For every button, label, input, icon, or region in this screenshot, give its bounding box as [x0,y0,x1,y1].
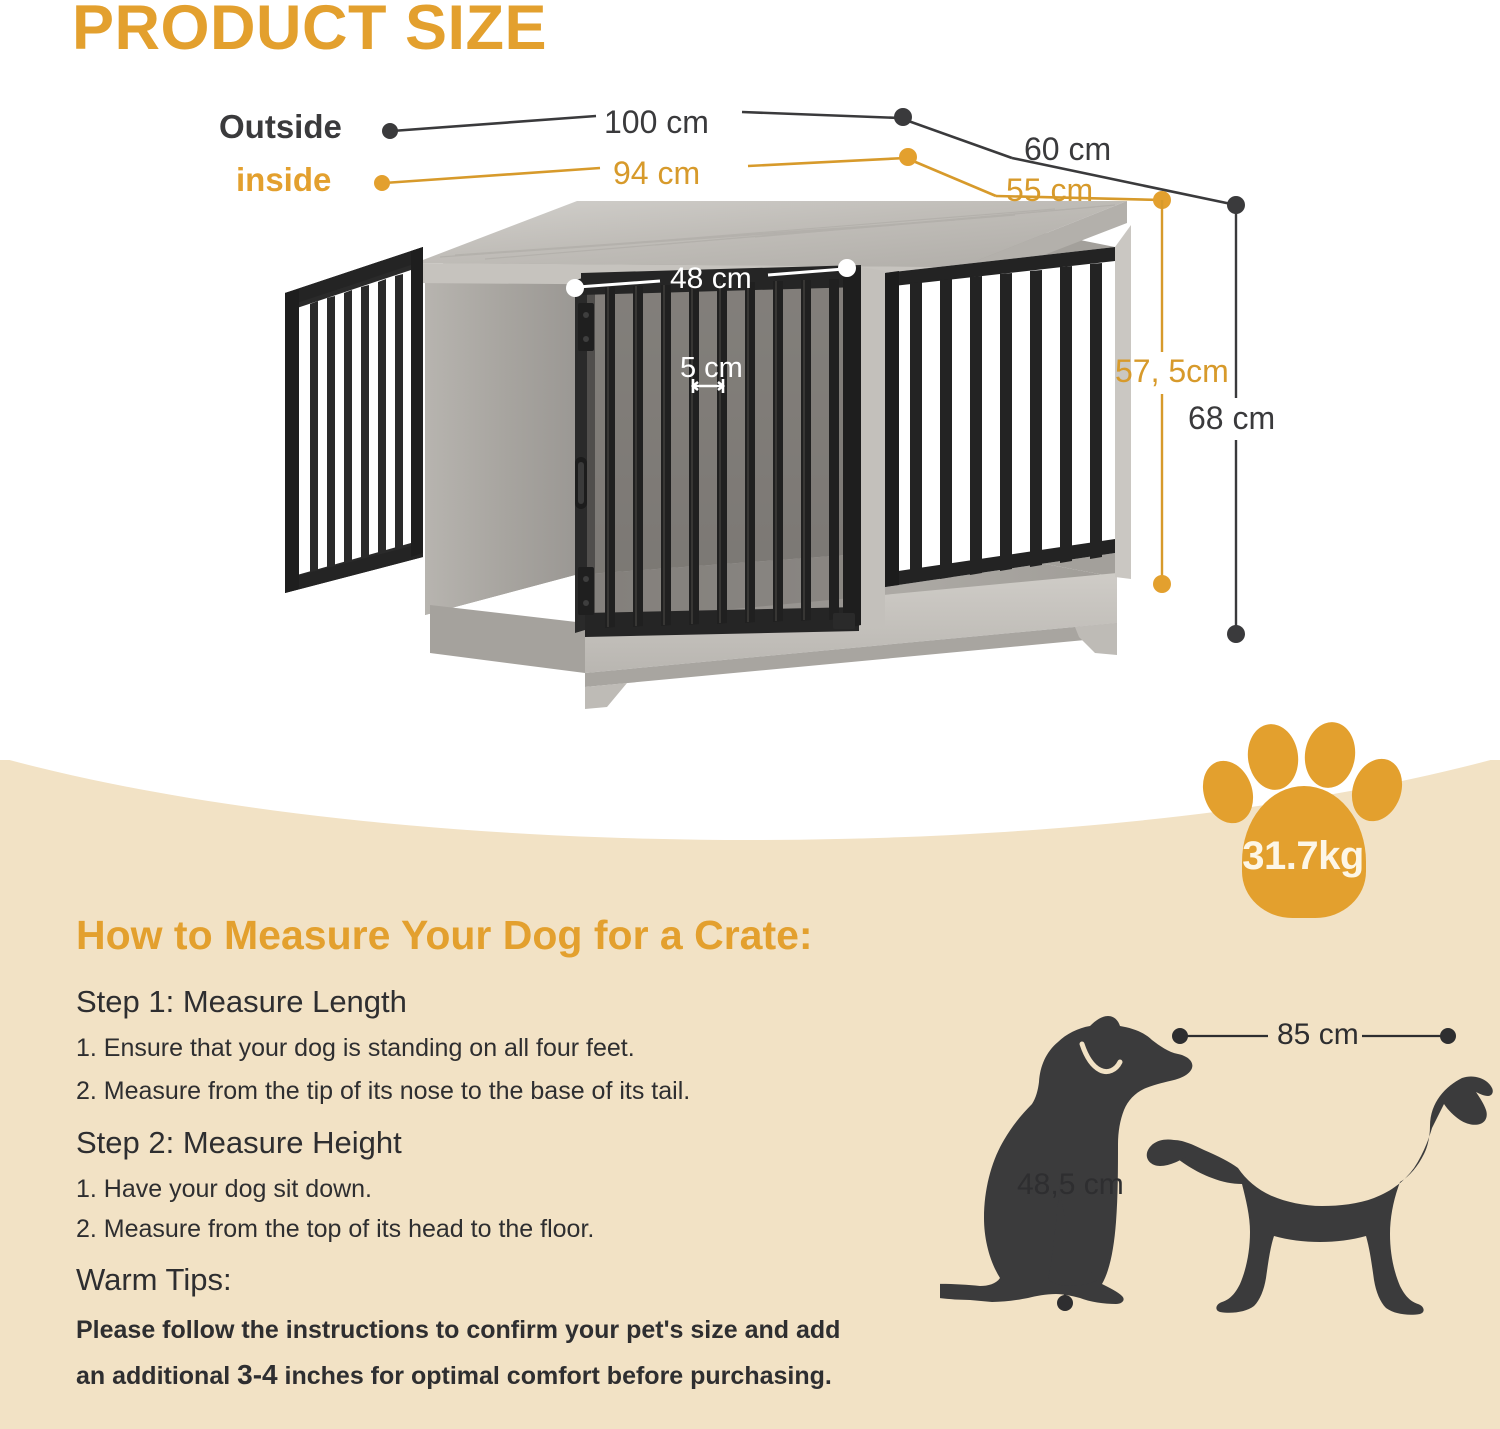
label-door-width: 48 cm [670,262,752,296]
step1-line1: 1. Ensure that your dog is standing on a… [76,1034,635,1063]
warm-tips-line2-post: inches for optimal comfort before purcha… [278,1362,832,1390]
dim-endpoint-outside-right [1227,196,1245,214]
label-outside: Outside [219,108,342,146]
label-outside-width: 100 cm [604,104,709,141]
label-outside-height: 68 cm [1188,400,1275,437]
step1-title: Step 1: Measure Length [76,984,407,1020]
infographic-canvas: PRODUCT SIZE [0,0,1500,1429]
open-left-door [285,247,423,593]
guide-heading: How to Measure Your Dog for a Crate: [76,912,813,959]
weight-value: 31.7kg [1198,834,1408,879]
standing-dog-silhouette [1147,1077,1493,1315]
step1-line2: 2. Measure from the tip of its nose to t… [76,1077,690,1106]
warm-tips-line2: an additional 3-4 inches for optimal com… [76,1359,832,1391]
step2-title: Step 2: Measure Height [76,1125,402,1161]
warm-tips-line1: Please follow the instructions to confir… [76,1316,840,1345]
dim-endpoint-outside-left [382,123,398,139]
step2-line2: 2. Measure from the top of its head to t… [76,1215,594,1244]
paw-print-icon: 31.7kg [1198,716,1408,921]
label-dog-standing-length: 85 cm [1277,1018,1359,1052]
label-inside-depth: 55 cm [1006,172,1093,209]
page-title: PRODUCT SIZE [72,0,547,64]
label-inside-width: 94 cm [613,155,700,192]
dog-crate-product-image [255,175,1135,735]
warm-tips-line2-pre: an additional [76,1362,237,1390]
dim-endpoint-inside-topcorner [899,148,917,166]
paw-toe-3 [1301,719,1360,791]
dim-endpoint-inside-right [1153,191,1171,209]
label-inside-height: 57, 5cm [1115,353,1229,390]
step2-line1: 1. Have your dog sit down. [76,1175,372,1204]
paw-toe-2 [1244,721,1303,793]
label-bar-gap: 5 cm [680,352,743,385]
label-outside-depth: 60 cm [1024,131,1111,168]
label-dog-sitting-height: 48,5 cm [1017,1168,1124,1202]
dim-endpoint-outside-topcorner [894,108,912,126]
warm-tips-title: Warm Tips: [76,1262,232,1298]
right-side-panel-bars [885,247,1115,587]
label-inside: inside [236,161,331,199]
front-sliding-doors [575,265,861,637]
warm-tips-inches-emphasis: 3-4 [237,1359,277,1390]
